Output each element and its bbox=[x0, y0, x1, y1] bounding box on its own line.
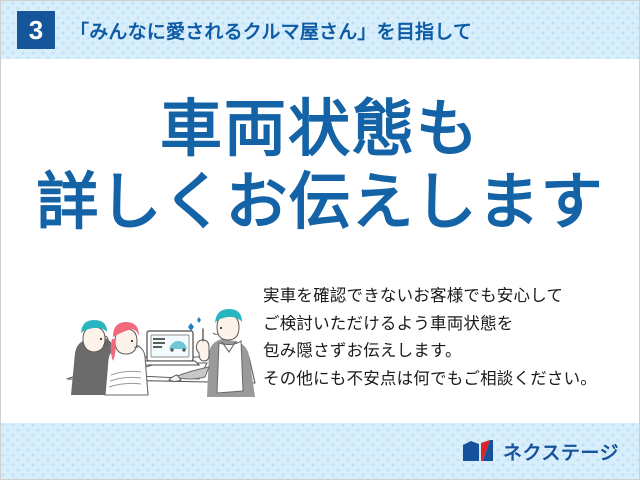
nextage-n-logo-icon bbox=[462, 439, 496, 463]
customers-and-staff-illustration bbox=[59, 279, 259, 407]
body-copy: 実車を確認できないお客様でも安心して ご検討いただけるよう車両状態を 包み隠さず… bbox=[263, 283, 639, 394]
headline-line-2: 詳しくお伝えします bbox=[1, 166, 639, 239]
header-band: 3 「みんなに愛されるクルマ屋さん」を目指して bbox=[1, 1, 639, 59]
footer-band: ネクステージ bbox=[1, 423, 639, 479]
brand-logo: ネクステージ bbox=[462, 438, 619, 465]
body-copy-line-3: 包み隠さずお伝えします。 bbox=[263, 338, 639, 366]
body-copy-line-4: その他にも不安点は何でもご相談ください。 bbox=[263, 366, 639, 394]
body-copy-line-1: 実車を確認できないお客様でも安心して bbox=[263, 283, 639, 311]
step-number-badge: 3 bbox=[17, 11, 55, 49]
header-title: 「みんなに愛されるクルマ屋さん」を目指して bbox=[70, 17, 472, 44]
headline-line-1: 車両状態も bbox=[1, 93, 639, 166]
headline: 車両状態も 詳しくお伝えします bbox=[1, 93, 639, 239]
content-row: 実車を確認できないお客様でも安心して ご検討いただけるよう車両状態を 包み隠さず… bbox=[1, 273, 639, 403]
advertisement-page: 3 「みんなに愛されるクルマ屋さん」を目指して 車両状態も 詳しくお伝えします bbox=[0, 0, 640, 480]
body-copy-line-2: ご検討いただけるよう車両状態を bbox=[263, 311, 639, 339]
brand-name-text: ネクステージ bbox=[503, 438, 619, 465]
